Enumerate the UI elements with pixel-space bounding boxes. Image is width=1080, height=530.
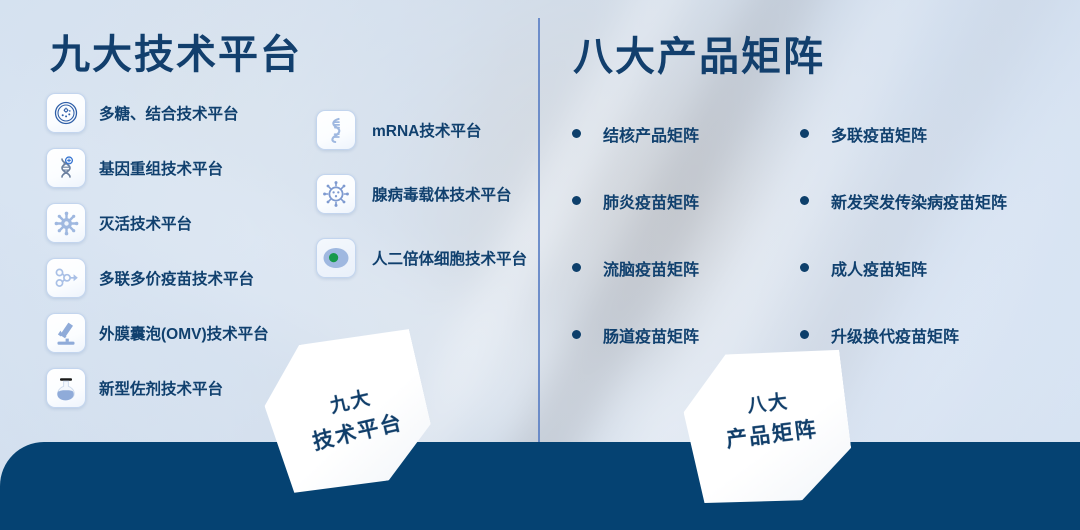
microscope-icon — [46, 313, 86, 353]
branching-molecule-icon — [46, 258, 86, 298]
mrna-strand-icon — [316, 110, 356, 150]
platform-item-polysaccharide[interactable]: 多糖、结合技术平台 — [46, 86, 269, 140]
product-item-meningitis[interactable]: 流脑疫苗矩阵 — [572, 234, 699, 301]
platform-item-diploid-cell[interactable]: 人二倍体细胞技术平台 — [316, 227, 527, 289]
product-list-column-1: 结核产品矩阵 肺炎疫苗矩阵 流脑疫苗矩阵 肠道疫苗矩阵 — [572, 100, 699, 368]
product-item-label: 成人疫苗矩阵 — [831, 256, 927, 280]
product-item-adult[interactable]: 成人疫苗矩阵 — [800, 234, 1007, 301]
product-item-label: 新发突发传染病疫苗矩阵 — [831, 189, 1007, 213]
product-item-label: 升级换代疫苗矩阵 — [831, 323, 959, 347]
adenovirus-icon — [316, 174, 356, 214]
platform-list-column-1: 多糖、结合技术平台 基因重组技术平台 — [46, 86, 269, 416]
platform-item-label: 外膜囊泡(OMV)技术平台 — [99, 322, 269, 344]
product-item-label: 结核产品矩阵 — [603, 122, 699, 146]
bullet-dot-icon — [800, 263, 809, 272]
bullet-dot-icon — [572, 263, 581, 272]
slide-canvas: 九大技术平台 八大产品矩阵 多糖、结合技术平台 — [0, 0, 1080, 530]
bullet-dot-icon — [572, 330, 581, 339]
right-panel-title: 八大产品矩阵 — [573, 24, 825, 82]
product-item-label: 肠道疫苗矩阵 — [603, 323, 699, 347]
product-item-combination[interactable]: 多联疫苗矩阵 — [800, 100, 1007, 167]
panel-divider — [538, 18, 540, 442]
polysaccharide-cell-icon — [46, 93, 86, 133]
left-panel-title: 九大技术平台 — [50, 22, 302, 80]
product-item-pneumonia[interactable]: 肺炎疫苗矩阵 — [572, 167, 699, 234]
bullet-dot-icon — [800, 330, 809, 339]
product-item-emerging-infectious[interactable]: 新发突发传染病疫苗矩阵 — [800, 167, 1007, 234]
bottom-navy-band — [0, 442, 1080, 530]
platform-item-recombinant[interactable]: 基因重组技术平台 — [46, 141, 269, 195]
product-item-tuberculosis[interactable]: 结核产品矩阵 — [572, 100, 699, 167]
platform-item-label: 人二倍体细胞技术平台 — [372, 247, 527, 269]
platform-list-column-2: mRNA技术平台 — [316, 99, 527, 291]
platform-item-label: mRNA技术平台 — [372, 119, 481, 141]
dna-helix-icon — [46, 148, 86, 188]
platform-item-inactivated[interactable]: 灭活技术平台 — [46, 196, 269, 250]
product-item-label: 肺炎疫苗矩阵 — [603, 189, 699, 213]
inactivated-virus-icon — [46, 203, 86, 243]
bullet-dot-icon — [800, 196, 809, 205]
product-item-label: 多联疫苗矩阵 — [831, 122, 927, 146]
platform-item-multivalent[interactable]: 多联多价疫苗技术平台 — [46, 251, 269, 305]
diploid-cell-icon — [316, 238, 356, 278]
platform-item-label: 新型佐剂技术平台 — [99, 377, 223, 399]
product-list-column-2: 多联疫苗矩阵 新发突发传染病疫苗矩阵 成人疫苗矩阵 升级换代疫苗矩阵 — [800, 100, 1007, 368]
bullet-dot-icon — [572, 129, 581, 138]
platform-item-adenovirus[interactable]: 腺病毒载体技术平台 — [316, 163, 527, 225]
platform-item-label: 多联多价疫苗技术平台 — [99, 267, 254, 289]
bullet-dot-icon — [572, 196, 581, 205]
platform-item-label: 腺病毒载体技术平台 — [372, 183, 512, 205]
platform-item-label: 多糖、结合技术平台 — [99, 102, 239, 124]
flask-icon — [46, 368, 86, 408]
product-item-enteric[interactable]: 肠道疫苗矩阵 — [572, 301, 699, 368]
platform-item-adjuvant[interactable]: 新型佐剂技术平台 — [46, 361, 269, 415]
platform-item-mrna[interactable]: mRNA技术平台 — [316, 99, 527, 161]
platform-item-label: 灭活技术平台 — [99, 212, 192, 234]
bullet-dot-icon — [800, 129, 809, 138]
platform-item-omv[interactable]: 外膜囊泡(OMV)技术平台 — [46, 306, 269, 360]
product-item-label: 流脑疫苗矩阵 — [603, 256, 699, 280]
platform-item-label: 基因重组技术平台 — [99, 157, 223, 179]
